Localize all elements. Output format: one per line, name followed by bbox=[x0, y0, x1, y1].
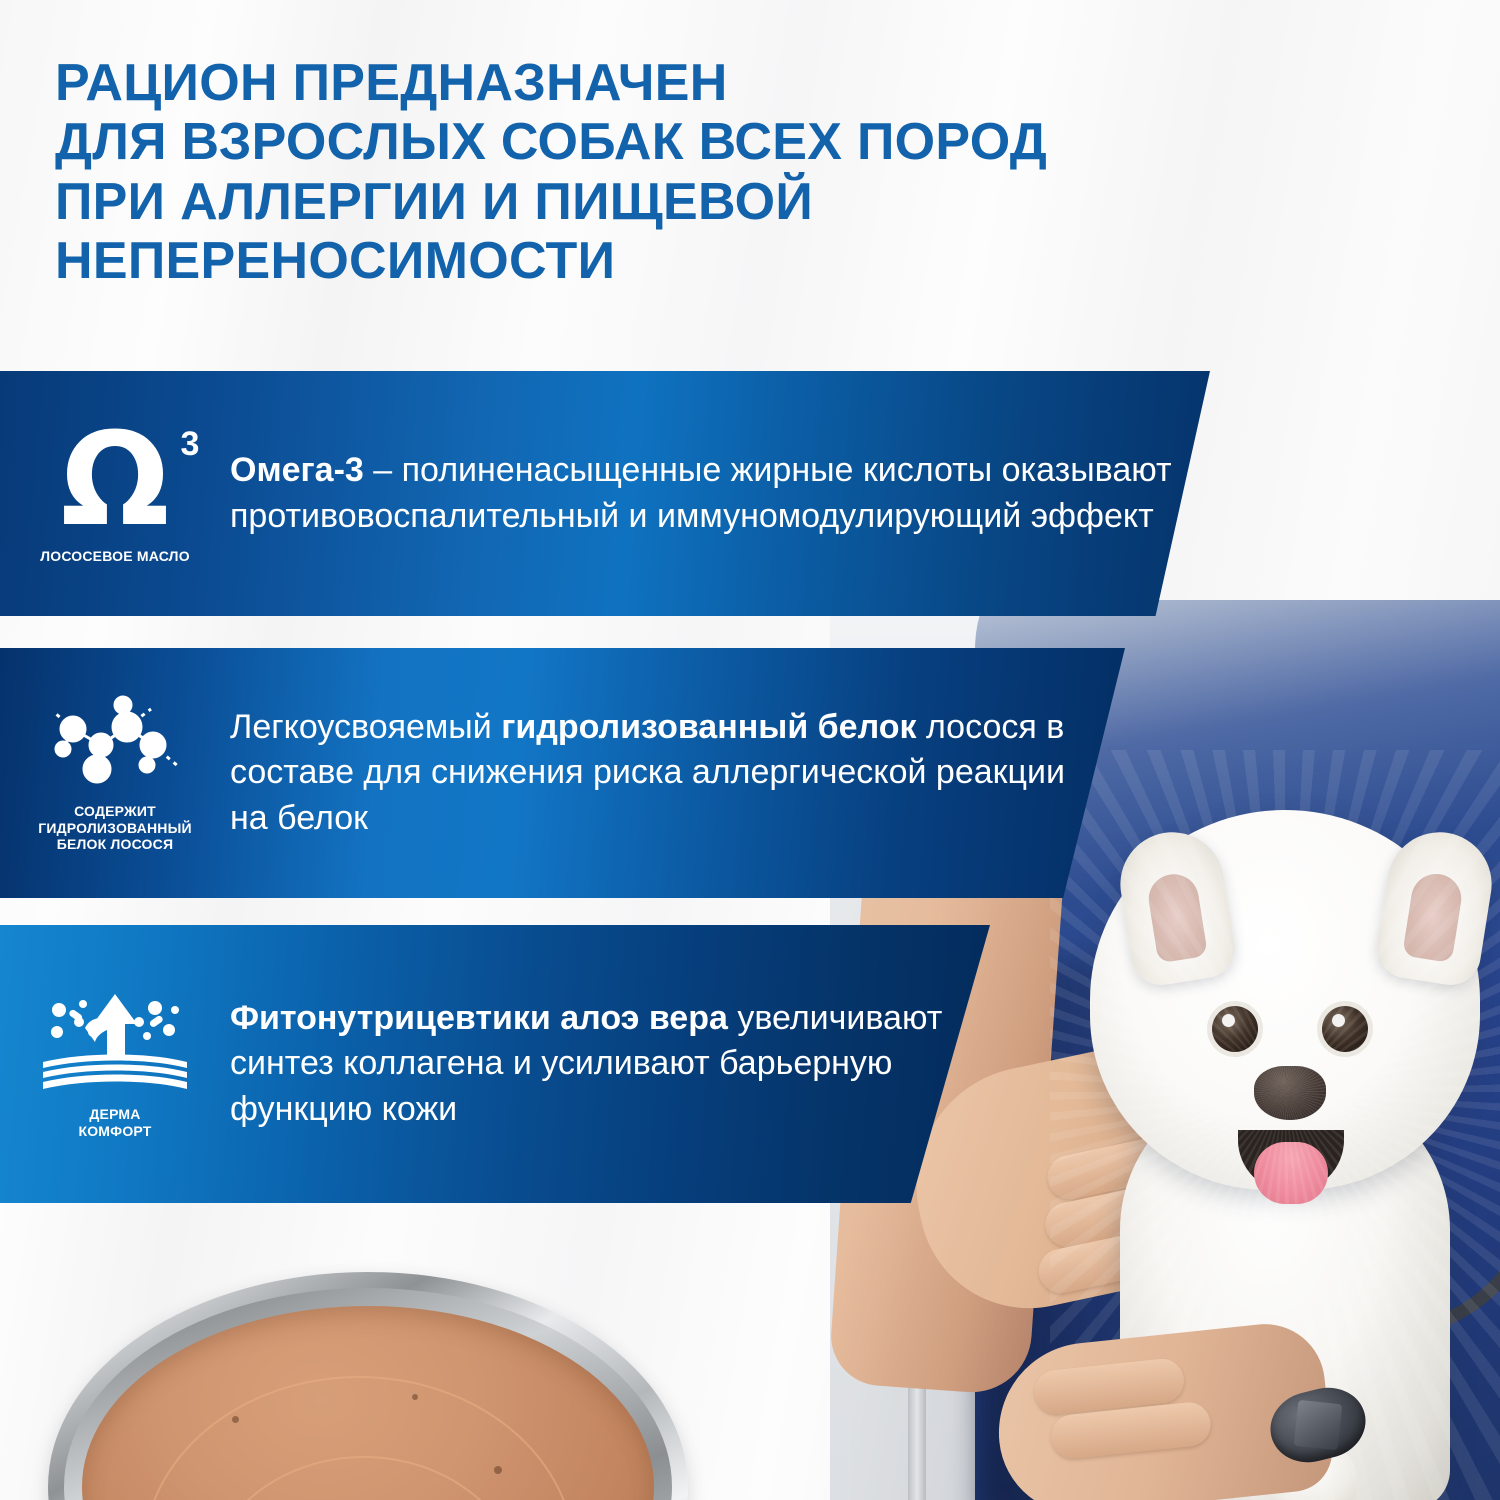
omega-superscript-3: 3 bbox=[180, 429, 199, 460]
benefit-text-omega-3: Омега-3 – полиненасыщенные жирные кислот… bbox=[230, 448, 1210, 538]
benefit-banner-hydrolyzed-protein: СОДЕРЖИТ ГИДРОЛИЗОВАННЫЙ БЕЛОК ЛОСОСЯ Ле… bbox=[0, 648, 1125, 898]
pate-speck bbox=[412, 1394, 418, 1400]
benefit-text-bold: гидролизованный белок bbox=[501, 708, 916, 746]
page-title: РАЦИОН ПРЕДНАЗНАЧЕН ДЛЯ ВЗРОСЛЫХ СОБАК В… bbox=[55, 54, 1235, 291]
benefit-text-bold: Фитонутрицевтики алоэ вера bbox=[230, 999, 728, 1037]
open-can-of-pate-dog-food bbox=[48, 1272, 688, 1500]
pate-speck bbox=[494, 1466, 502, 1474]
benefit-text-hydrolyzed-protein: Легкоусвояемый гидролизованный белок лос… bbox=[230, 705, 1125, 841]
benefit-text-rest: – полиненасыщенные жирные кислоты оказыв… bbox=[230, 451, 1172, 534]
benefit-text-derma-comfort: Фитонутрицевтики алоэ вера увеличивают с… bbox=[230, 996, 990, 1132]
infographic-page: РАЦИОН ПРЕДНАЗНАЧЕН ДЛЯ ВЗРОСЛЫХ СОБАК В… bbox=[0, 0, 1500, 1500]
derma-icon-caption: ДЕРМА КОМФОРТ bbox=[78, 1106, 151, 1139]
derma-comfort-skin-barrier-icon: ДЕРМА КОМФОРТ bbox=[0, 988, 230, 1139]
dog-tongue bbox=[1254, 1142, 1328, 1204]
headline-line-4: НЕПЕРЕНОСИМОСТИ bbox=[55, 232, 1235, 291]
headline-line-3: ПРИ АЛЛЕРГИИ И ПИЩЕВОЙ bbox=[55, 173, 1235, 232]
dog-eye-right bbox=[1322, 1006, 1368, 1052]
headline-line-2: ДЛЯ ВЗРОСЛЫХ СОБАК ВСЕХ ПОРОД bbox=[55, 113, 1235, 172]
benefit-text-bold: Омега-3 bbox=[230, 451, 364, 489]
omega-symbol: Ω 3 bbox=[61, 423, 170, 538]
dog-ear-left bbox=[1113, 825, 1239, 989]
headline-line-1: РАЦИОН ПРЕДНАЗНАЧЕН bbox=[55, 54, 1235, 113]
omega-3-salmon-oil-icon: Ω 3 ЛОСОСЕВОЕ МАСЛО bbox=[0, 423, 230, 565]
dog-eye-left bbox=[1212, 1006, 1258, 1052]
benefit-banner-omega-3: Ω 3 ЛОСОСЕВОЕ МАСЛО Омега-3 – полиненасы… bbox=[0, 371, 1210, 616]
hydrolyzed-protein-molecule-icon: СОДЕРЖИТ ГИДРОЛИЗОВАННЫЙ БЕЛОК ЛОСОСЯ bbox=[0, 693, 230, 853]
molecule-icon-svg bbox=[35, 693, 195, 793]
dog-nose bbox=[1254, 1066, 1326, 1120]
dog-head bbox=[1090, 810, 1480, 1190]
omega-glyph-char: Ω bbox=[61, 406, 170, 555]
pate-speck bbox=[232, 1416, 239, 1423]
protein-icon-caption: СОДЕРЖИТ ГИДРОЛИЗОВАННЫЙ БЕЛОК ЛОСОСЯ bbox=[38, 803, 192, 853]
derma-comfort-icon-svg bbox=[35, 988, 195, 1096]
benefit-text-lead: Легкоусвояемый bbox=[230, 708, 501, 746]
dog-ear-right bbox=[1373, 825, 1499, 989]
benefit-banner-derma-comfort: ДЕРМА КОМФОРТ Фитонутрицевтики алоэ вера… bbox=[0, 925, 990, 1203]
